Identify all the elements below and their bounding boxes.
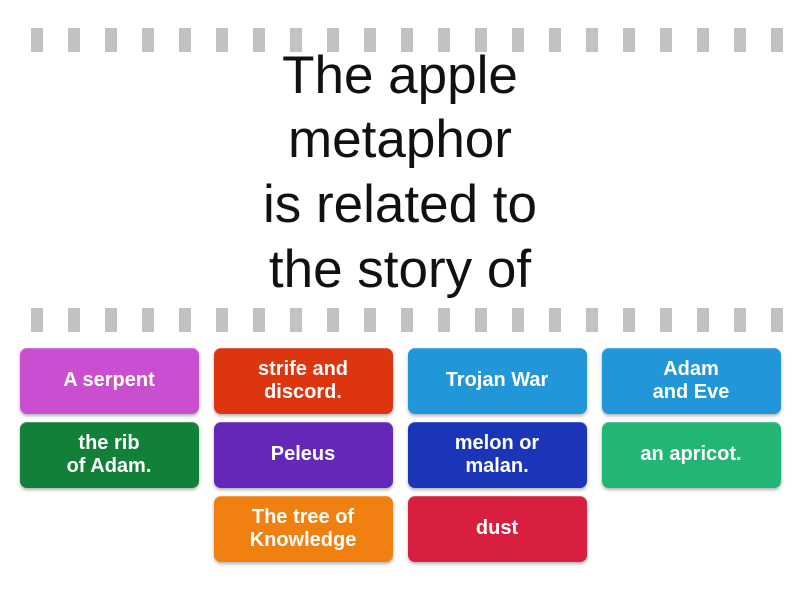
answers-area: A serpentstrife and discord.Trojan WarAd…	[0, 348, 800, 588]
answer-tile[interactable]: the rib of Adam.	[20, 422, 199, 488]
answer-tile[interactable]: Peleus	[214, 422, 393, 488]
filmstrip-dash	[475, 308, 487, 332]
filmstrip-dash	[31, 308, 43, 332]
quiz-stage: The apple metaphor is related to the sto…	[0, 0, 800, 600]
filmstrip-dash	[142, 308, 154, 332]
filmstrip-dash	[438, 308, 450, 332]
filmstrip-dash	[660, 308, 672, 332]
question-area: The apple metaphor is related to the sto…	[0, 42, 800, 304]
filmstrip-bottom	[0, 307, 800, 333]
filmstrip-dash	[401, 308, 413, 332]
answer-tile[interactable]: dust	[408, 496, 587, 562]
filmstrip-dash	[771, 308, 783, 332]
filmstrip-dash	[623, 308, 635, 332]
filmstrip-dash	[253, 308, 265, 332]
answer-row: A serpentstrife and discord.Trojan WarAd…	[0, 348, 800, 414]
filmstrip-dash	[697, 308, 709, 332]
filmstrip-dash	[105, 308, 117, 332]
filmstrip-dash	[549, 308, 561, 332]
filmstrip-dash	[364, 308, 376, 332]
filmstrip-dash	[290, 308, 302, 332]
filmstrip-dash	[179, 308, 191, 332]
filmstrip-dash	[327, 308, 339, 332]
answer-tile[interactable]: Adam and Eve	[602, 348, 781, 414]
filmstrip-dash	[512, 308, 524, 332]
filmstrip-dash	[734, 308, 746, 332]
answer-tile[interactable]: melon or malan.	[408, 422, 587, 488]
answer-tile[interactable]: A serpent	[20, 348, 199, 414]
filmstrip-dash	[68, 308, 80, 332]
answer-row: The tree of Knowledgedust	[0, 496, 800, 562]
answer-tile[interactable]: strife and discord.	[214, 348, 393, 414]
answer-tile[interactable]: an apricot.	[602, 422, 781, 488]
filmstrip-dash	[216, 308, 228, 332]
question-text: The apple metaphor is related to the sto…	[263, 44, 537, 303]
answer-row: the rib of Adam.Peleusmelon or malan.an …	[0, 422, 800, 488]
filmstrip-dash	[586, 308, 598, 332]
answer-tile[interactable]: Trojan War	[408, 348, 587, 414]
answer-tile[interactable]: The tree of Knowledge	[214, 496, 393, 562]
